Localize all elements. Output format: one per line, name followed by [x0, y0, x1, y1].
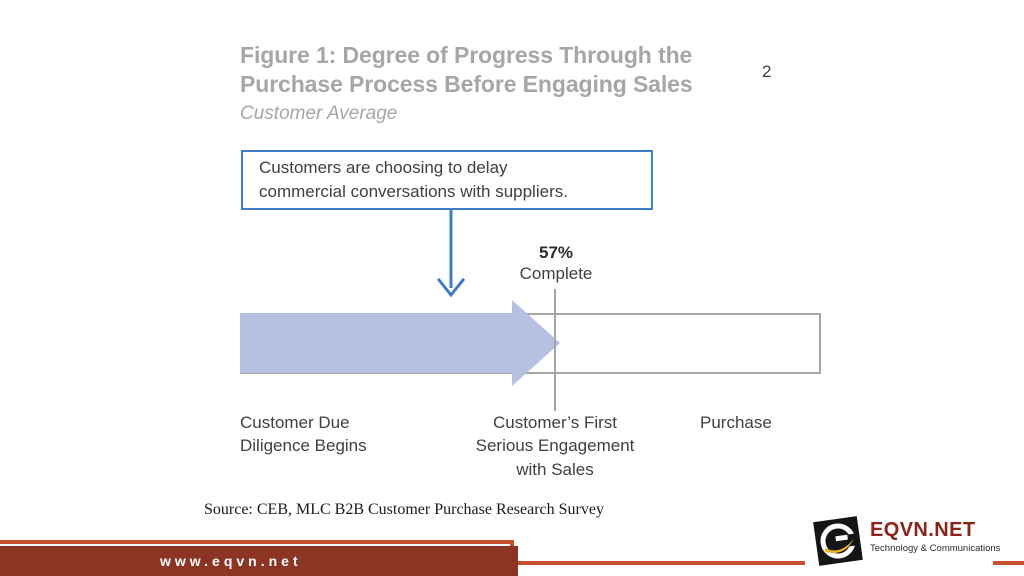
- title-block: Figure 1: Degree of Progress Through the…: [240, 41, 750, 126]
- axis-label-middle: Customer’s First Serious Engagement with…: [450, 411, 660, 481]
- footer-accent-top: [0, 540, 514, 544]
- marker-divider-line: [554, 289, 556, 411]
- axis-label-start-line-1: Customer Due: [240, 413, 350, 432]
- logo-tagline: Technology & Communications: [870, 544, 1000, 554]
- slide-canvas: Figure 1: Degree of Progress Through the…: [0, 0, 1024, 576]
- logo: EQVN.NET Technology & Communications: [812, 516, 1012, 568]
- eqvn-emblem-icon: [812, 516, 864, 566]
- callout-line-2: commercial conversations with suppliers.: [259, 180, 651, 204]
- logo-text: EQVN.NET Technology & Communications: [870, 520, 1000, 554]
- axis-label-start-line-2: Diligence Begins: [240, 436, 367, 455]
- footer-accent-right: [510, 561, 805, 565]
- figure-title: Figure 1: Degree of Progress Through the…: [240, 41, 750, 99]
- percent-caption: Complete: [476, 263, 636, 284]
- figure-subtitle: Customer Average: [240, 103, 750, 126]
- callout-box: Customers are choosing to delay commerci…: [241, 150, 653, 210]
- source-note: Source: CEB, MLC B2B Customer Purchase R…: [204, 501, 604, 519]
- axis-label-end: Purchase: [700, 411, 880, 434]
- axis-label-middle-line-3: with Sales: [516, 460, 593, 479]
- axis-label-start: Customer Due Diligence Begins: [240, 411, 450, 458]
- figure-title-line-2: Purchase Process Before Engaging Sales: [240, 71, 693, 97]
- logo-name: EQVN.NET: [870, 520, 1000, 540]
- callout-connector-arrow-icon: [430, 208, 472, 300]
- progress-fill-arrow: [240, 300, 560, 386]
- figure-title-line-1: Figure 1: Degree of Progress Through the: [240, 42, 692, 68]
- percent-value: 57%: [476, 242, 636, 263]
- percent-complete-label: 57% Complete: [476, 242, 636, 285]
- page-number: 2: [762, 62, 771, 82]
- axis-label-middle-line-1: Customer’s First: [493, 413, 617, 432]
- axis-label-middle-line-2: Serious Engagement: [476, 436, 635, 455]
- callout-line-1: Customers are choosing to delay: [259, 156, 651, 180]
- footer-url: www.eqvn.net: [160, 553, 302, 569]
